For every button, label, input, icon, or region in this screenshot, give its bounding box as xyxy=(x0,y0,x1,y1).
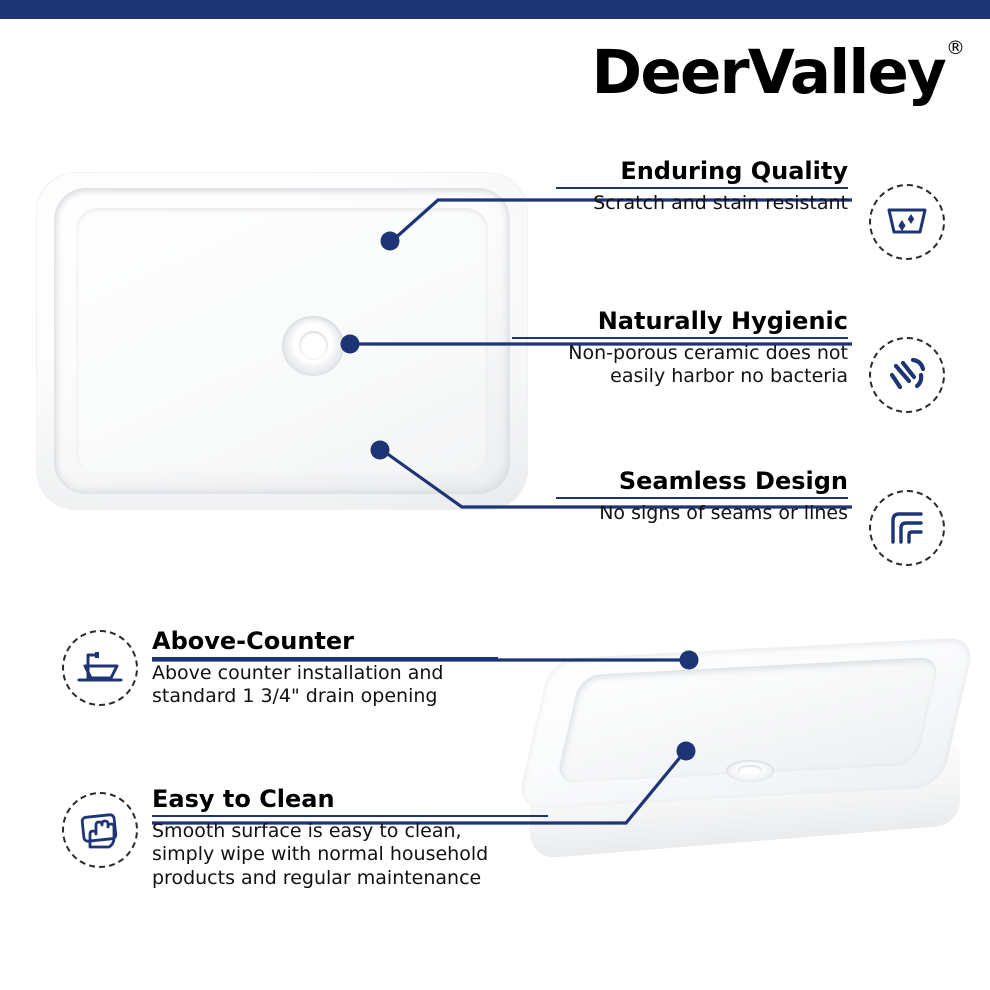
feature-divider xyxy=(512,337,848,339)
vessel-sink-faucet-icon xyxy=(62,630,138,706)
sink-perspective-drain-hole xyxy=(726,760,774,782)
feature-enduring-quality: Enduring Quality Scratch and stain resis… xyxy=(556,158,848,215)
feature-title: Easy to Clean xyxy=(152,786,548,813)
feature-description: No signs of seams or lines xyxy=(556,502,848,526)
hand-wipe-glyph xyxy=(76,807,124,853)
feature-description-line-2: simply wipe with normal household xyxy=(152,843,548,867)
feature-easy-to-clean: Easy to Clean Smooth surface is easy to … xyxy=(152,786,548,891)
feature-description-line-2: standard 1 3/4" drain opening xyxy=(152,685,498,709)
feature-description-line-1: Non-porous ceramic does not xyxy=(512,342,848,366)
top-banner-bar xyxy=(0,0,990,19)
brand-logo: DeerValley® xyxy=(612,36,964,108)
feature-title: Above-Counter xyxy=(152,628,498,655)
registered-trademark-icon: ® xyxy=(946,37,965,59)
feature-description-line-3: products and regular maintenance xyxy=(152,867,548,891)
sink-top-view-image xyxy=(36,172,528,510)
feature-divider xyxy=(152,657,498,659)
vessel-sink-faucet-glyph xyxy=(75,646,125,690)
feature-divider xyxy=(556,497,848,499)
infographic-page: DeerValley® Enduring Qu xyxy=(0,0,990,990)
feature-title: Enduring Quality xyxy=(556,158,848,185)
bacteria-icon xyxy=(869,337,945,413)
feature-seamless-design: Seamless Design No signs of seams or lin… xyxy=(556,468,848,525)
brand-name: DeerValley xyxy=(592,42,945,103)
feature-title: Seamless Design xyxy=(556,468,848,495)
feature-description: Scratch and stain resistant xyxy=(556,192,848,216)
feature-description-line-1: Above counter installation and xyxy=(152,662,498,686)
sink-perspective-body xyxy=(508,632,980,878)
bacteria-glyph xyxy=(883,351,931,399)
rounded-corner-icon xyxy=(869,490,945,566)
sink-sparkle-glyph xyxy=(883,200,931,244)
rounded-corner-glyph xyxy=(885,506,929,550)
hand-wipe-icon xyxy=(62,792,138,868)
feature-above-counter: Above-Counter Above counter installation… xyxy=(152,628,498,709)
sink-drain-hole xyxy=(282,316,344,376)
feature-title: Naturally Hygienic xyxy=(512,308,848,335)
sink-perspective-image xyxy=(508,632,980,878)
feature-naturally-hygienic: Naturally Hygienic Non-porous ceramic do… xyxy=(512,308,848,389)
feature-divider xyxy=(556,187,848,189)
sink-sparkle-icon xyxy=(869,184,945,260)
feature-divider xyxy=(152,815,548,817)
feature-description-line-1: Smooth surface is easy to clean, xyxy=(152,820,548,844)
feature-description-line-2: easily harbor no bacteria xyxy=(512,365,848,389)
